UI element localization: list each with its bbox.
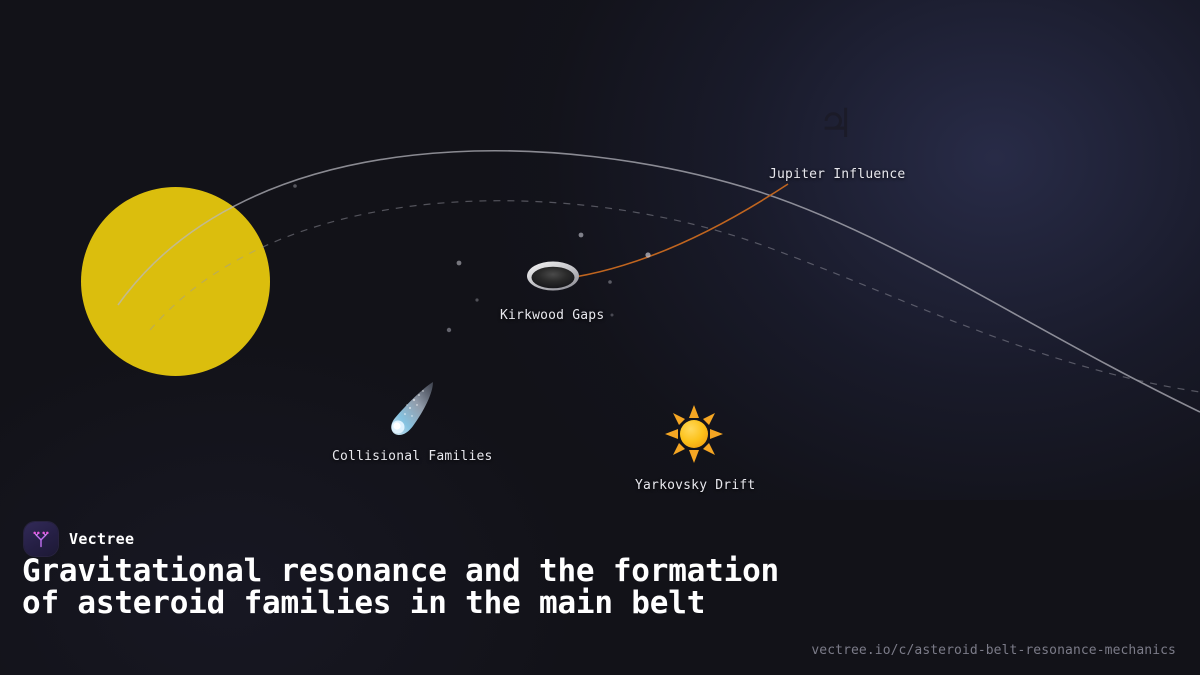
brand-row[interactable]: Vectree [24, 522, 134, 556]
star-dot [457, 261, 462, 266]
brand-name: Vectree [69, 530, 134, 548]
star-dot [475, 298, 478, 301]
hole-ellipse-icon [527, 262, 579, 291]
star-dot [608, 280, 612, 284]
page-title: Gravitational resonance and the formatio… [22, 555, 782, 619]
diagram-stage: ♃ Jupiter Influence Kirkwood Gaps Collis… [0, 0, 1200, 675]
dashed-orbit-arc [150, 201, 1200, 392]
star-dot [579, 233, 584, 238]
node-label-jupiter-influence: Jupiter Influence [769, 167, 905, 182]
source-url: vectree.io/c/asteroid-belt-resonance-mec… [811, 643, 1176, 658]
sun-icon [664, 404, 724, 464]
solid-orbit-arc [118, 151, 1200, 412]
node-label-collisional-families: Collisional Families [332, 449, 493, 464]
jupiter-symbol-icon: ♃ [818, 104, 854, 144]
star-dot [645, 252, 650, 257]
node-label-kirkwood-gaps: Kirkwood Gaps [500, 308, 604, 323]
star-dot [611, 314, 614, 317]
star-dot [447, 328, 451, 332]
star-dot [293, 184, 297, 188]
node-label-yarkovsky-drift: Yarkovsky Drift [635, 478, 755, 493]
comet-icon [381, 378, 441, 438]
footer-block: Vectree Gravitational resonance and the … [0, 503, 1200, 675]
vectree-tree-icon [24, 522, 58, 556]
jupiter-influence-line [542, 184, 788, 281]
